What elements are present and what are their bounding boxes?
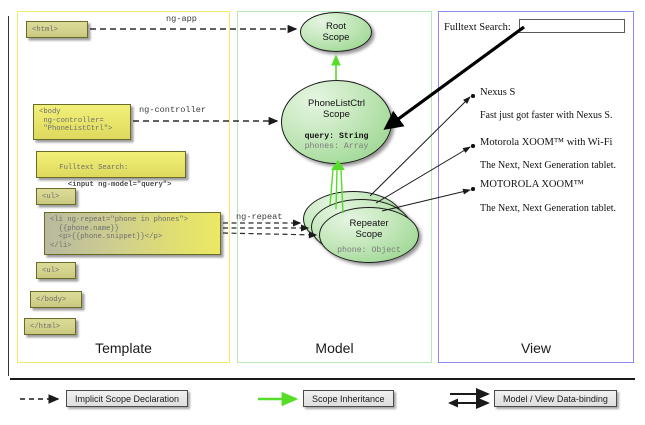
diagram-canvas: Template Model View <html> <body ng-cont… <box>0 0 645 425</box>
scope-repeater: Repeater Scope phone: Object <box>319 207 419 263</box>
legend-item-model-view-data-binding: Model / View Data-binding <box>494 390 617 407</box>
legend-item-scope-inheritance: Scope Inheritance <box>303 390 394 407</box>
code-box-html-close: </html> <box>24 318 76 335</box>
scope-prop-phones: phones: Array <box>282 142 391 152</box>
scope-root-title-1: Root <box>301 21 371 32</box>
panel-model-label: Model <box>238 340 431 356</box>
edge-label-ng-controller: ng-controller <box>139 105 206 115</box>
view-list-bullet-2 <box>471 144 475 148</box>
code-box-search-input-code: <input ng-model="query"> <box>59 181 171 189</box>
view-list-bullet-1 <box>471 94 475 98</box>
view-item-name-2: Motorola XOOM™ with Wi-Fi <box>480 137 612 148</box>
scope-root-title-2: Scope <box>301 32 371 43</box>
scope-prop-phone: phone: Object <box>320 246 418 256</box>
code-box-body-close: </body> <box>30 291 82 308</box>
legend-item-implicit-scope-declaration: Implicit Scope Declaration <box>66 390 188 407</box>
scope-repeater-title-1: Repeater <box>320 218 418 229</box>
scope-phonelistctrl: PhoneListCtrl Scope query: String phones… <box>281 80 392 164</box>
view-search-label: Fulltext Search: <box>444 22 511 33</box>
view-item-name-1: Nexus S <box>480 87 515 98</box>
legend-separator <box>10 378 635 380</box>
scope-phonelistctrl-title-1: PhoneListCtrl <box>282 98 391 109</box>
view-list-bullet-3 <box>471 187 475 191</box>
left-vertical-rule <box>8 16 9 376</box>
scope-prop-query: query: String <box>282 132 391 142</box>
code-box-body-open: <body ng-controller= "PhoneListCtrl"> <box>33 104 131 140</box>
panel-model: Model <box>237 11 432 363</box>
view-item-snippet-1: Fast just got faster with Nexus S. <box>480 110 613 121</box>
scope-root: Root Scope <box>300 12 372 52</box>
code-box-ul-close: <ul> <box>36 262 76 279</box>
code-box-ul-open: <ul> <box>36 188 76 205</box>
code-box-search-label: Fulltext Search: <box>59 164 128 172</box>
edge-label-ng-repeat: ng-repeat <box>236 212 282 222</box>
panel-template-label: Template <box>18 340 229 356</box>
view-item-name-3: MOTOROLA XOOM™ <box>480 179 584 190</box>
panel-view-label: View <box>439 340 633 356</box>
scope-repeater-title-2: Scope <box>320 229 418 240</box>
code-box-html-open: <html> <box>26 21 88 38</box>
view-item-snippet-2: The Next, Next Generation tablet. <box>480 160 616 171</box>
legend-glyph-data-binding <box>448 394 488 408</box>
code-box-li-ngrepeat: <li ng-repeat="phone in phones"> {{phone… <box>44 212 221 255</box>
view-item-snippet-3: The Next, Next Generation tablet. <box>480 203 616 214</box>
scope-phonelistctrl-props: query: String phones: Array <box>282 132 391 152</box>
scope-repeater-props: phone: Object <box>320 246 418 256</box>
scope-phonelistctrl-title-2: Scope <box>282 109 391 120</box>
view-search-input[interactable] <box>519 19 625 33</box>
code-box-search-input: Fulltext Search: <input ng-model="query"… <box>36 151 186 178</box>
edge-label-ng-app: ng-app <box>166 14 197 24</box>
